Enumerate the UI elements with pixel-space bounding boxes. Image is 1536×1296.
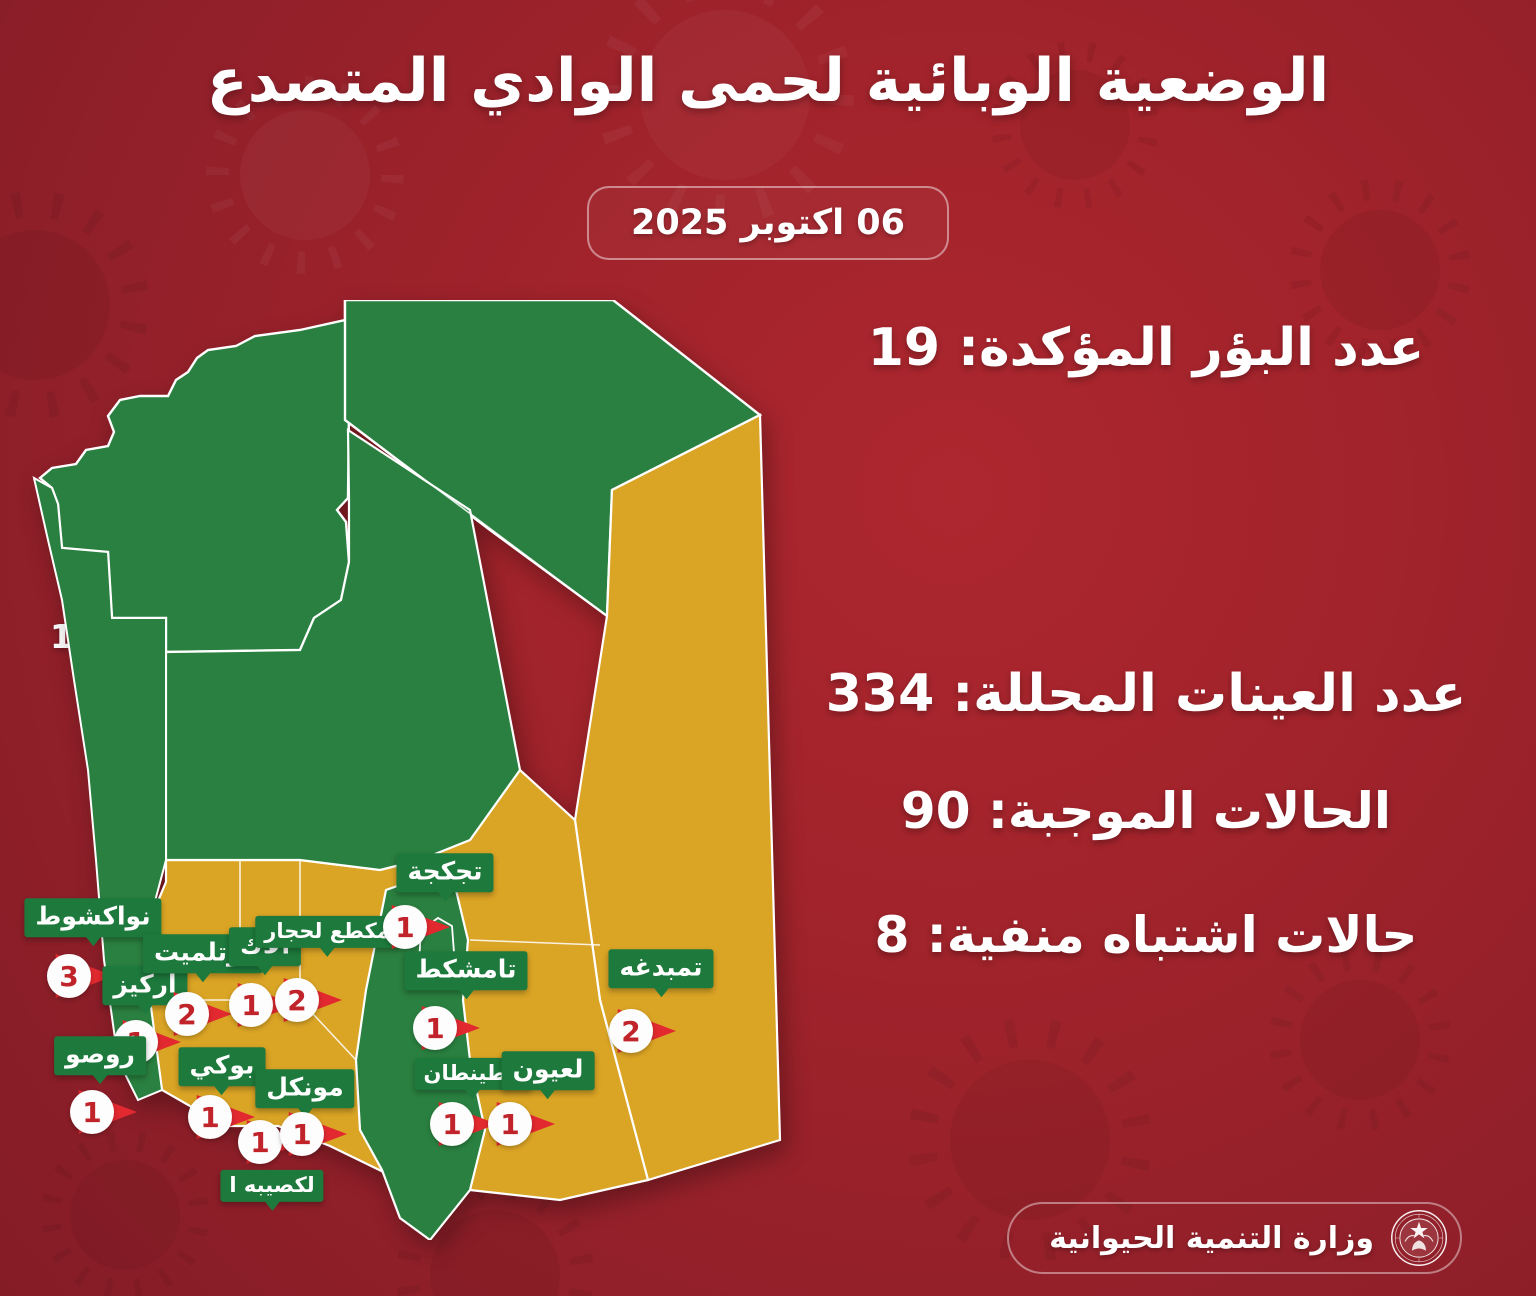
virus-decoration-icon (1320, 210, 1440, 330)
map-label-10: تامشكط (404, 951, 527, 990)
report-date-text: 06 اكتوبر 2025 (631, 203, 905, 243)
marker-count-badge: 1 (430, 1102, 474, 1146)
marker-count-badge: 1 (383, 905, 427, 949)
map-marker-8: 1 (285, 1105, 347, 1163)
map-label-13: تمبدغه (608, 949, 713, 988)
map-marker-13: 2 (614, 1002, 676, 1060)
map-label-8: لكصيبه ا (220, 1170, 323, 1202)
map-label-5: مكطع لحجار (255, 916, 398, 948)
virus-decoration-icon (240, 110, 370, 240)
marker-count-badge: 2 (275, 978, 319, 1022)
marker-count-badge: 2 (165, 992, 209, 1036)
infographic-poster: الوضعية الوبائية لحمى الوادي المتصدع 06 … (0, 0, 1536, 1296)
map-marker-5: 2 (280, 971, 342, 1029)
report-date-badge: 06 اكتوبر 2025 (587, 186, 949, 260)
marker-count-badge: 1 (280, 1112, 324, 1156)
marker-count-badge: 1 (238, 1120, 282, 1164)
map-label-2: روصو (54, 1036, 146, 1075)
virus-decoration-icon (950, 1060, 1110, 1220)
marker-count-badge: 1 (229, 983, 273, 1027)
marker-count-badge: 3 (47, 954, 91, 998)
ministry-footer: وزارة التنمية الحيوانية (1007, 1202, 1462, 1274)
map-marker-10: 1 (418, 999, 480, 1057)
marker-count-badge: 1 (413, 1006, 457, 1050)
map-label-0: نواكشوط (24, 898, 161, 937)
map-label-6: بوكي (179, 1047, 266, 1086)
virus-decoration-icon (1300, 980, 1420, 1100)
marker-count-badge: 1 (70, 1090, 114, 1134)
marker-count-badge: 1 (488, 1102, 532, 1146)
map-regions (34, 300, 780, 1240)
map-label-9: تجكجة (396, 853, 493, 892)
marker-count-badge: 2 (609, 1009, 653, 1053)
page-title: الوضعية الوبائية لحمى الوادي المتصدع (0, 44, 1536, 119)
national-seal-emblem-icon (1390, 1209, 1448, 1267)
map-label-7: مونكل (255, 1069, 354, 1108)
mauritania-map: نواكشوط3اركيز1روصو1بوتلميت2ألاك1مكطع لحج… (0, 300, 900, 1240)
map-label-12: لعيون (502, 1051, 595, 1090)
marker-count-badge: 1 (188, 1095, 232, 1139)
ministry-name: وزارة التنمية الحيوانية (1049, 1221, 1374, 1256)
map-marker-3: 2 (170, 985, 232, 1043)
map-marker-9: 1 (388, 898, 450, 956)
map-marker-2: 1 (75, 1083, 137, 1141)
map-marker-12: 1 (493, 1095, 555, 1153)
